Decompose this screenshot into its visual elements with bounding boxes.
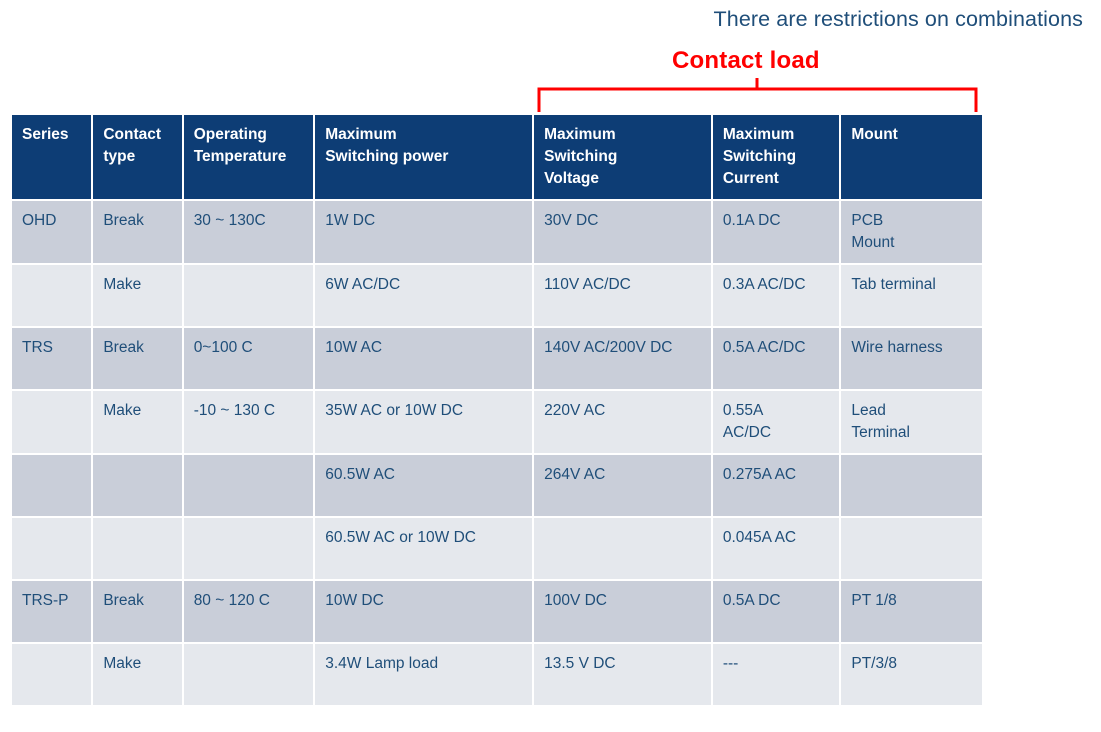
cell-operating-temperature [184, 518, 314, 579]
table-row: Make 3.4W Lamp load 13.5 V DC --- PT/3/8 [12, 644, 982, 705]
cell-max-switching-current: --- [713, 644, 840, 705]
column-header-max-switching-voltage: Maximum Switching Voltage [534, 115, 711, 199]
cell-max-switching-voltage: 110V AC/DC [534, 265, 711, 326]
cell-series [12, 391, 91, 453]
cell-max-switching-current: 0.275A AC [713, 455, 840, 516]
cell-max-switching-power: 60.5W AC [315, 455, 532, 516]
cell-series: TRS-P [12, 581, 91, 642]
table-row: 60.5W AC or 10W DC 0.045A AC [12, 518, 982, 579]
column-header-operating-temperature: Operating Temperature [184, 115, 314, 199]
cell-mount: Wire harness [841, 328, 982, 389]
cell-max-switching-voltage: 220V AC [534, 391, 711, 453]
annotation-area: There are restrictions on combinations C… [0, 0, 1101, 113]
cell-contact-type: Break [93, 201, 181, 263]
cell-series [12, 518, 91, 579]
column-header-max-switching-power: Maximum Switching power [315, 115, 532, 199]
cell-operating-temperature [184, 455, 314, 516]
table-body: OHD Break 30 ~ 130C 1W DC 30V DC 0.1A DC… [12, 201, 982, 705]
cell-series [12, 265, 91, 326]
cell-max-switching-current: 0.5A DC [713, 581, 840, 642]
cell-max-switching-current: 0.3A AC/DC [713, 265, 840, 326]
cell-max-switching-voltage: 13.5 V DC [534, 644, 711, 705]
cell-mount: PCB Mount [841, 201, 982, 263]
table-row: OHD Break 30 ~ 130C 1W DC 30V DC 0.1A DC… [12, 201, 982, 263]
cell-max-switching-voltage: 100V DC [534, 581, 711, 642]
contact-load-spec-table: Series Contact type Operating Temperatur… [10, 113, 984, 707]
column-header-contact-type: Contact type [93, 115, 181, 199]
table-row: Make 6W AC/DC 110V AC/DC 0.3A AC/DC Tab … [12, 265, 982, 326]
cell-max-switching-power: 10W DC [315, 581, 532, 642]
cell-max-switching-voltage: 264V AC [534, 455, 711, 516]
cell-max-switching-current: 0.55A AC/DC [713, 391, 840, 453]
contact-load-title: Contact load [672, 47, 820, 75]
cell-max-switching-power: 10W AC [315, 328, 532, 389]
cell-mount: PT 1/8 [841, 581, 982, 642]
cell-max-switching-voltage: 30V DC [534, 201, 711, 263]
cell-mount: Lead Terminal [841, 391, 982, 453]
cell-max-switching-current: 0.045A AC [713, 518, 840, 579]
cell-max-switching-power: 3.4W Lamp load [315, 644, 532, 705]
contact-load-bracket-icon [530, 78, 985, 113]
table-header-row: Series Contact type Operating Temperatur… [12, 115, 982, 199]
column-header-series: Series [12, 115, 91, 199]
cell-contact-type: Make [93, 265, 181, 326]
cell-operating-temperature [184, 644, 314, 705]
cell-max-switching-power: 6W AC/DC [315, 265, 532, 326]
cell-max-switching-current: 0.5A AC/DC [713, 328, 840, 389]
column-header-mount: Mount [841, 115, 982, 199]
cell-max-switching-voltage [534, 518, 711, 579]
cell-max-switching-current: 0.1A DC [713, 201, 840, 263]
cell-mount: Tab terminal [841, 265, 982, 326]
cell-contact-type: Make [93, 644, 181, 705]
cell-operating-temperature: -10 ~ 130 C [184, 391, 314, 453]
table-row: TRS Break 0~100 C 10W AC 140V AC/200V DC… [12, 328, 982, 389]
cell-contact-type: Break [93, 328, 181, 389]
cell-contact-type [93, 518, 181, 579]
cell-series: OHD [12, 201, 91, 263]
cell-operating-temperature: 30 ~ 130C [184, 201, 314, 263]
cell-max-switching-power: 60.5W AC or 10W DC [315, 518, 532, 579]
cell-series: TRS [12, 328, 91, 389]
cell-mount: PT/3/8 [841, 644, 982, 705]
cell-max-switching-power: 35W AC or 10W DC [315, 391, 532, 453]
cell-contact-type [93, 455, 181, 516]
cell-series [12, 644, 91, 705]
cell-mount [841, 518, 982, 579]
column-header-max-switching-current: Maximum Switching Current [713, 115, 840, 199]
table-row: 60.5W AC 264V AC 0.275A AC [12, 455, 982, 516]
cell-operating-temperature [184, 265, 314, 326]
cell-max-switching-voltage: 140V AC/200V DC [534, 328, 711, 389]
table-row: Make -10 ~ 130 C 35W AC or 10W DC 220V A… [12, 391, 982, 453]
cell-mount [841, 455, 982, 516]
cell-operating-temperature: 0~100 C [184, 328, 314, 389]
cell-operating-temperature: 80 ~ 120 C [184, 581, 314, 642]
cell-max-switching-power: 1W DC [315, 201, 532, 263]
table-row: TRS-P Break 80 ~ 120 C 10W DC 100V DC 0.… [12, 581, 982, 642]
cell-contact-type: Break [93, 581, 181, 642]
restrictions-note: There are restrictions on combinations [714, 7, 1083, 32]
cell-contact-type: Make [93, 391, 181, 453]
cell-series [12, 455, 91, 516]
